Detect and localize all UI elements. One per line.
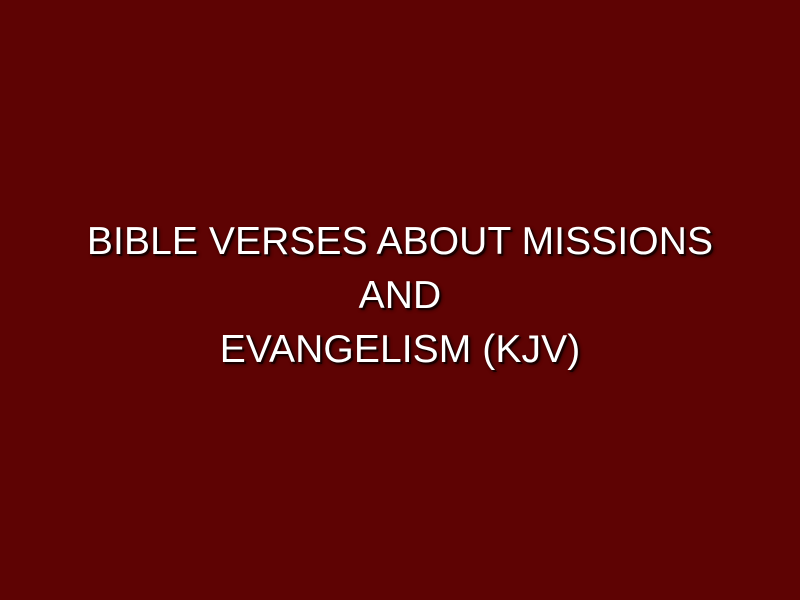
headline-block: BIBLE VERSES ABOUT MISSIONS AND EVANGELI…: [60, 215, 740, 377]
page-title: BIBLE VERSES ABOUT MISSIONS AND EVANGELI…: [60, 215, 740, 377]
title-card: BIBLE VERSES ABOUT MISSIONS AND EVANGELI…: [0, 0, 800, 600]
